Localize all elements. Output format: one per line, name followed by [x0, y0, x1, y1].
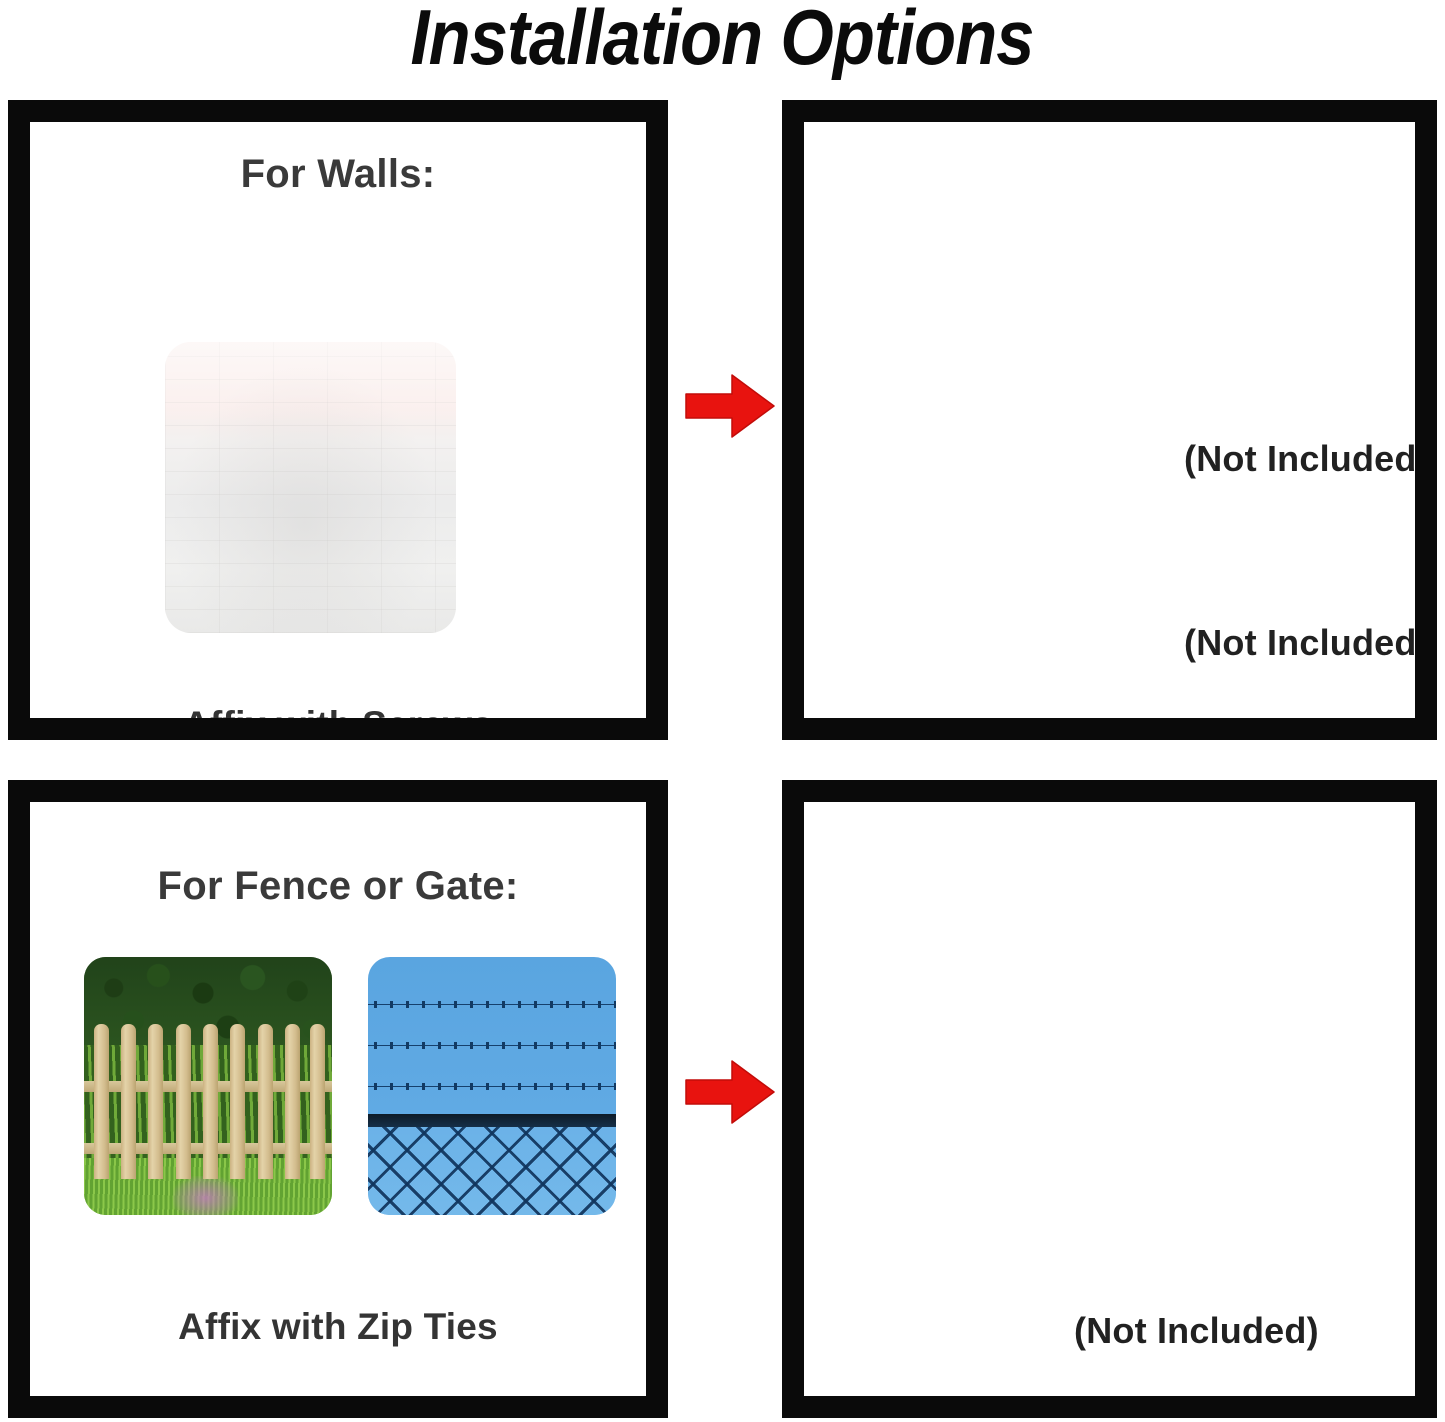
panel-for-walls-content: For Walls: Affix with Screws or Double S… [30, 122, 646, 718]
panel-zip-ties: (Not Included) [782, 780, 1437, 1418]
picket-board [176, 1024, 191, 1179]
barbed-wire-strand [368, 1083, 616, 1090]
picket-board [121, 1024, 136, 1179]
for-walls-caption-line1: Affix with Screws [30, 700, 646, 718]
barbed-wire-strand [368, 1001, 616, 1008]
for-fence-caption: Affix with Zip Ties [30, 1302, 646, 1352]
panel-wall-hardware: (Not Included) [782, 100, 1437, 740]
path-stain [173, 1176, 237, 1215]
fence-top-rail [368, 1114, 616, 1128]
picket-board [285, 1024, 300, 1179]
chain-link-fence-scene [368, 957, 616, 1215]
screws-not-included-label: (Not Included) [1184, 622, 1415, 664]
for-fence-heading: For Fence or Gate: [30, 864, 646, 909]
panel-for-fence-or-gate: For Fence or Gate: [8, 780, 668, 1418]
panel-for-walls: For Walls: Affix with Screws or Double S… [8, 100, 668, 740]
black-zip-ties-bundle-photo [804, 802, 1415, 1396]
panel-zip-ties-content: (Not Included) [804, 802, 1415, 1396]
picket-board [310, 1024, 325, 1179]
for-walls-caption: Affix with Screws or Double Sided Tape [30, 700, 646, 718]
white-brick-wall-photo [30, 122, 646, 718]
zip-ties-not-included-label: (Not Included) [1074, 1310, 1319, 1352]
picket-board [148, 1024, 163, 1179]
page-title-bar: Installation Options [0, 0, 1445, 88]
arrow-walls-to-hardware-icon [684, 372, 776, 440]
picket-fence-scene [84, 957, 332, 1215]
chain-link-mesh [368, 1127, 616, 1215]
arrow-fence-to-zipties-icon [684, 1058, 776, 1126]
barbed-wire-strand [368, 1042, 616, 1049]
picket-board [94, 1024, 109, 1179]
page-title: Installation Options [411, 0, 1034, 78]
panel-for-fence-or-gate-content: For Fence or Gate: [30, 802, 646, 1396]
wooden-picket-fence-photo [84, 957, 332, 1215]
panel-wall-hardware-content: (Not Included) [804, 122, 1415, 718]
picket-board [258, 1024, 273, 1179]
picket-board [203, 1024, 218, 1179]
chain-link-barbed-wire-fence-photo [368, 957, 616, 1215]
brick-wall-texture [165, 342, 456, 633]
picket-board [230, 1024, 245, 1179]
